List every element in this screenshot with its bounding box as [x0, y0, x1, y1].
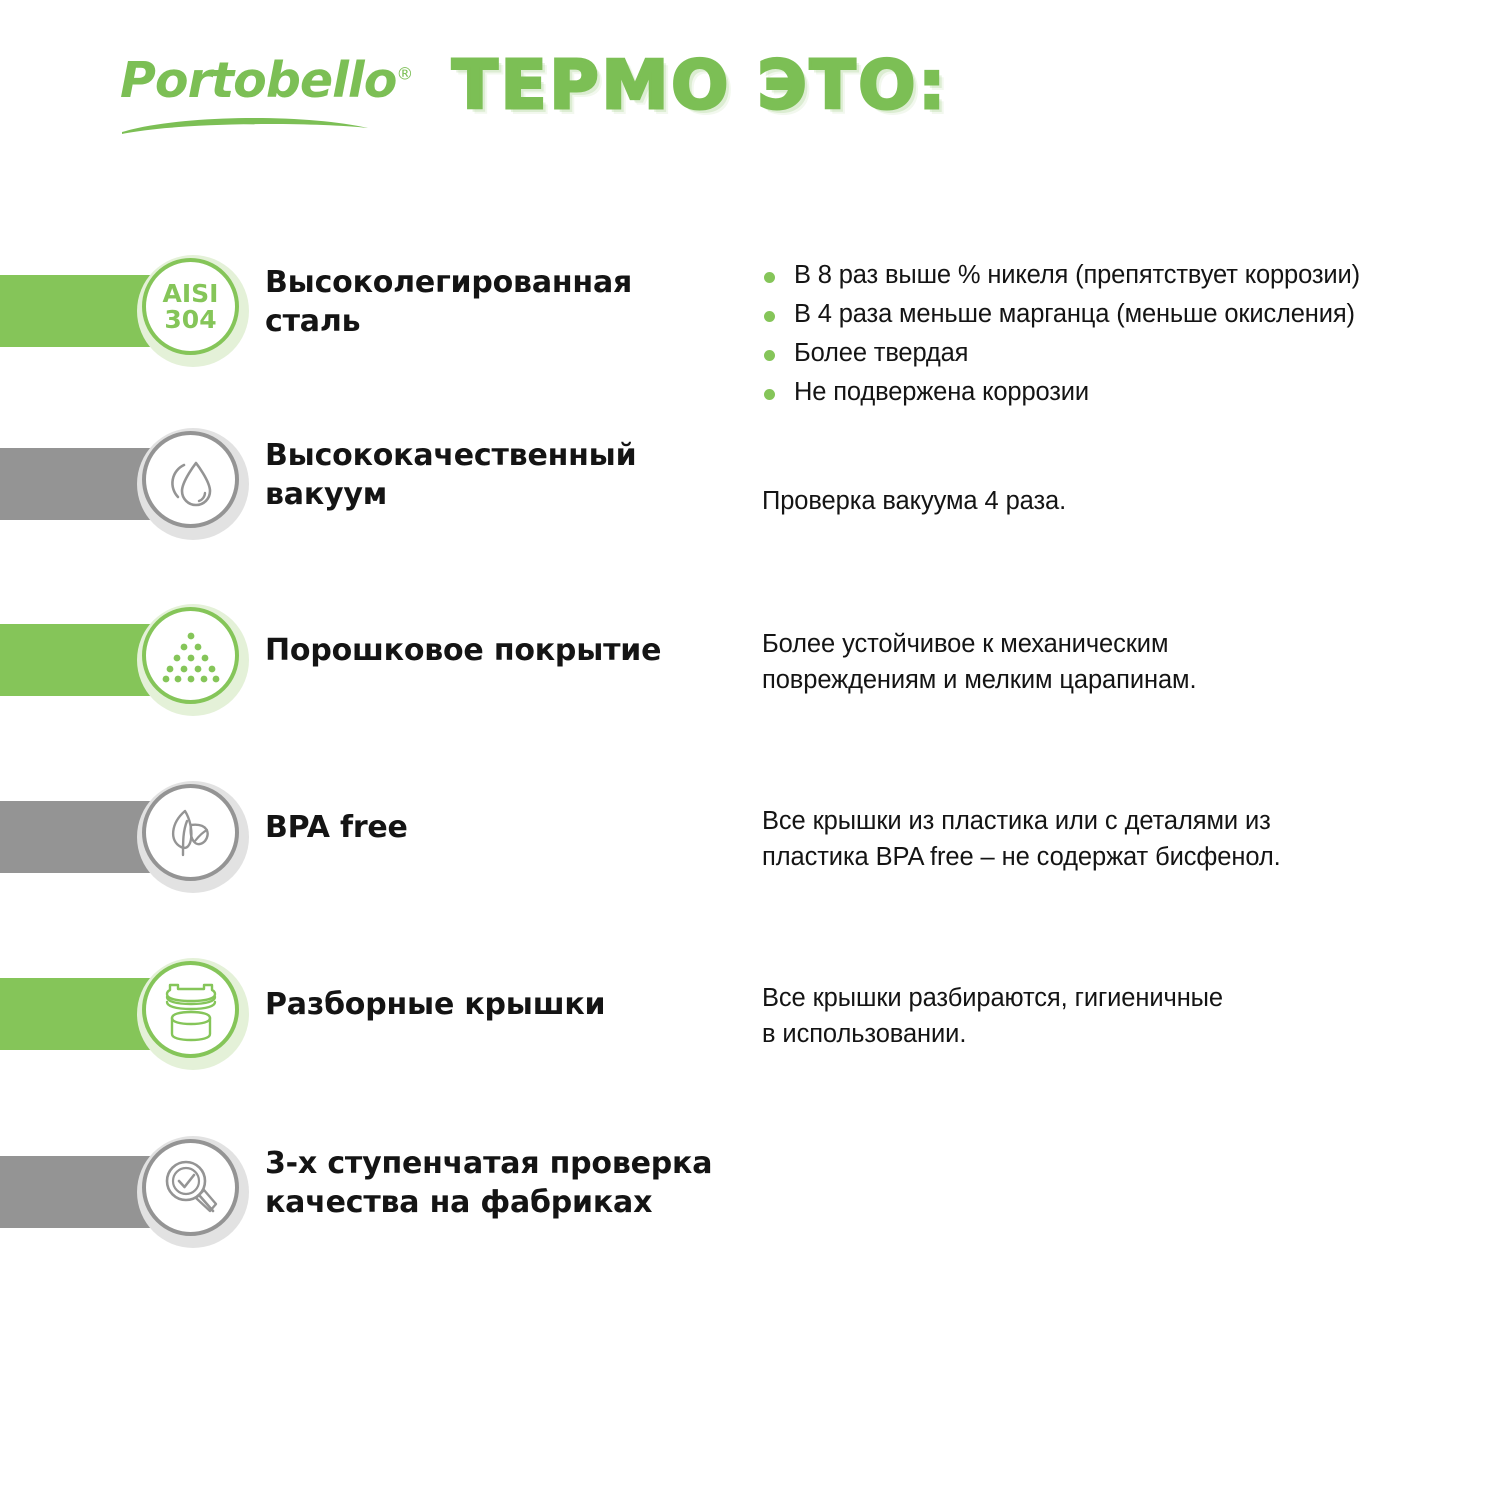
- feature-description: Все крышки разбираются, гигиеничные в ис…: [762, 980, 1223, 1052]
- feature-heading: BPA free: [265, 808, 408, 847]
- feature-description: Проверка вакуума 4 раза.: [762, 483, 1066, 519]
- feature-description: Более устойчивое к механическим поврежде…: [762, 626, 1196, 698]
- aisi-304-badge-icon: AISI 304: [142, 258, 239, 355]
- feature-heading: Разборные крышки: [265, 985, 605, 1024]
- feature-bullet-list: В 8 раз выше % никеля (препятствует корр…: [762, 258, 1360, 414]
- feature-badge: [137, 604, 249, 716]
- registered-trademark-icon: ®: [396, 65, 412, 85]
- list-item: Более твердая: [762, 336, 1360, 372]
- feature-badge: [137, 781, 249, 893]
- badge-line-1: AISI: [163, 281, 219, 307]
- page-header: Portobello® ТЕРМО ЭТО:: [0, 0, 1500, 200]
- feature-heading: 3-х ступенчатая проверка качества на фаб…: [265, 1144, 712, 1222]
- feature-heading: Высококачественный вакуум: [265, 436, 636, 514]
- list-item: В 4 раза меньше марганца (меньше окислен…: [762, 297, 1360, 333]
- magnifier-check-icon: [142, 1139, 239, 1236]
- feature-heading: Порошковое покрытие: [265, 631, 661, 670]
- powder-dots-icon: [142, 607, 239, 704]
- feature-badge: [137, 958, 249, 1070]
- brand-logo: Portobello®: [120, 56, 420, 156]
- water-drop-icon: [142, 431, 239, 528]
- feature-heading: Высоколегированная сталь: [265, 263, 632, 341]
- portobello-swoosh-icon: [122, 112, 368, 134]
- leaves-icon: [142, 784, 239, 881]
- brand-name: Portobello: [120, 52, 396, 109]
- feature-description: Все крышки из пластика или с деталями из…: [762, 803, 1281, 875]
- page-title: ТЕРМО ЭТО:: [452, 52, 948, 119]
- feature-badge: AISI 304: [137, 255, 249, 367]
- detachable-lid-icon: [142, 961, 239, 1058]
- list-item: Не подвержена коррозии: [762, 375, 1360, 411]
- feature-badge: [137, 428, 249, 540]
- badge-line-2: 304: [163, 307, 219, 333]
- feature-badge: [137, 1136, 249, 1248]
- list-item: В 8 раз выше % никеля (препятствует корр…: [762, 258, 1360, 294]
- brand-logo-text: Portobello®: [120, 56, 420, 105]
